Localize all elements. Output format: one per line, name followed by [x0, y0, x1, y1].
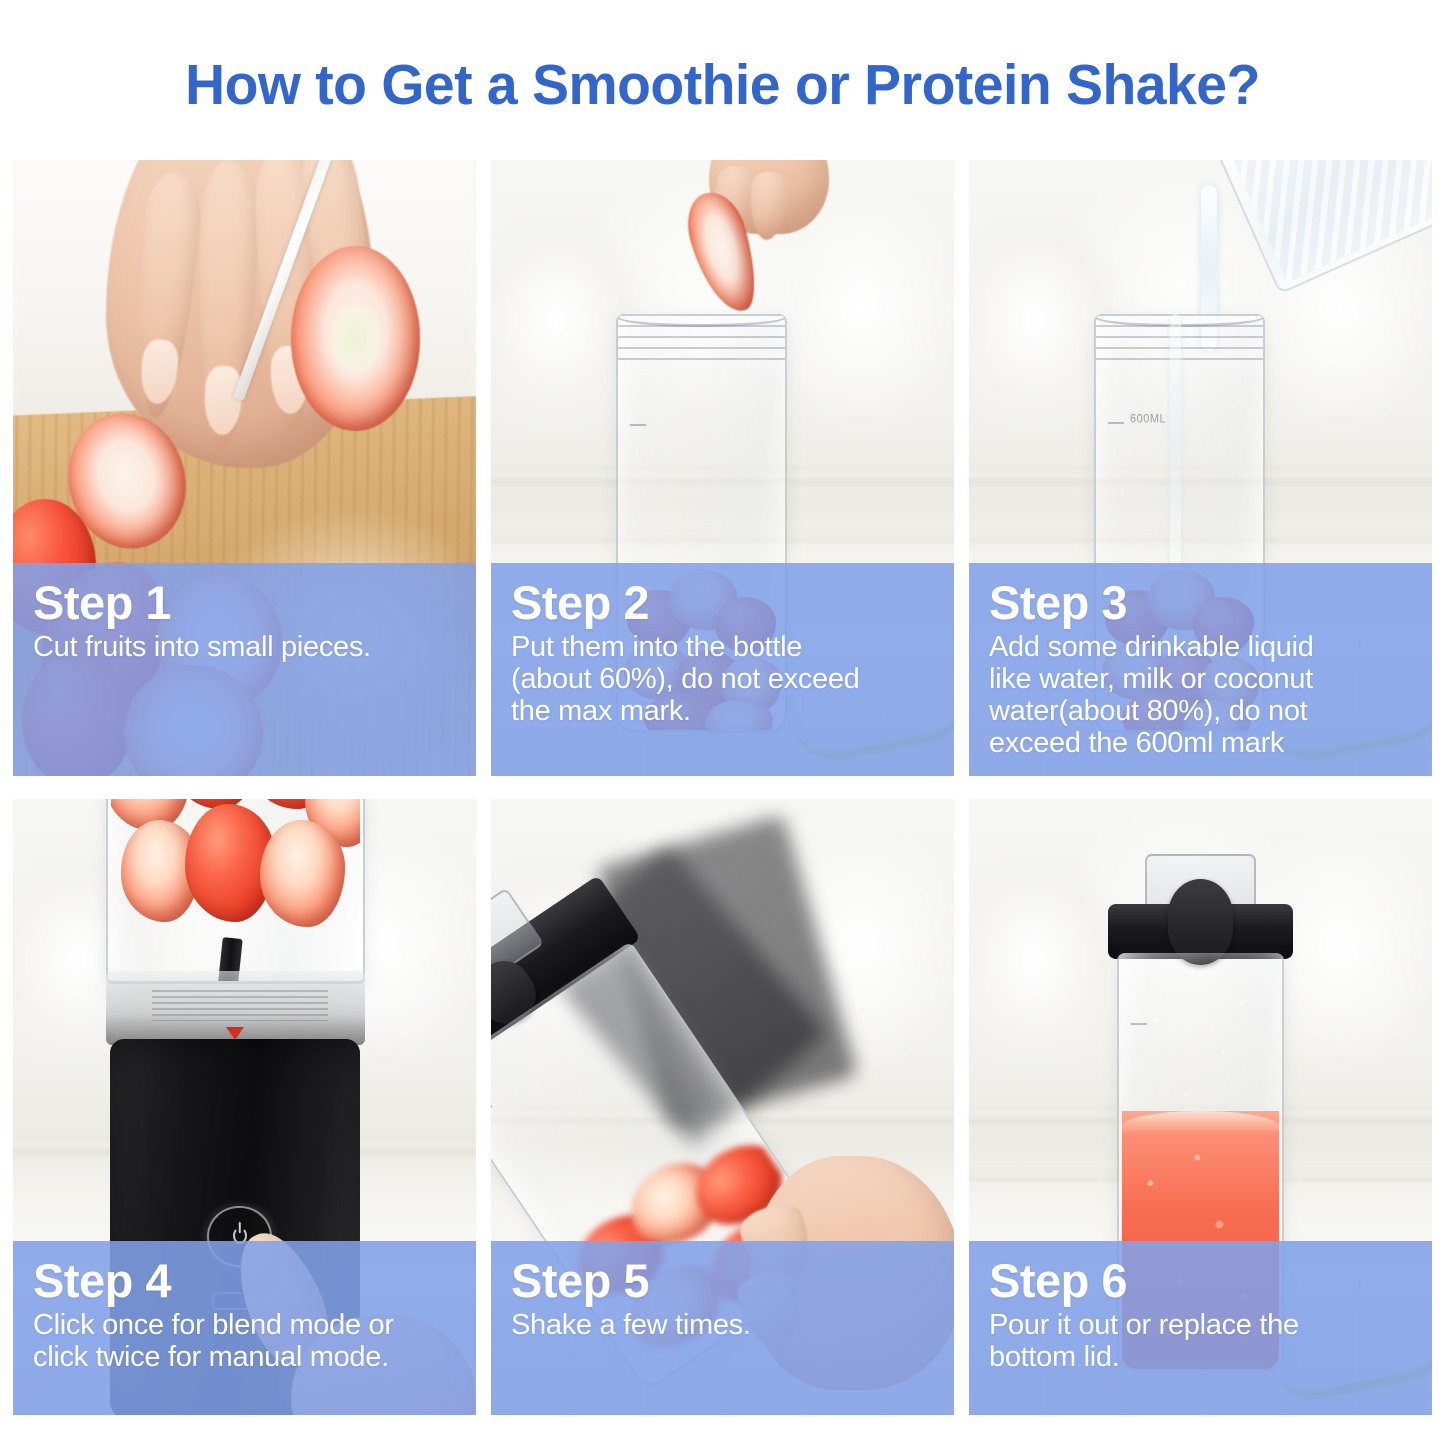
- step-1-title: Step 1: [33, 579, 458, 627]
- step-1-caption: Step 1 Cut fruits into small pieces.: [13, 563, 476, 776]
- step-6-title: Step 6: [989, 1257, 1414, 1305]
- bottle-marking-600ml: 600ML: [1130, 412, 1166, 425]
- step-5-caption: Step 5 Shake a few times.: [491, 1241, 954, 1415]
- step-6-body: Pour it out or replace the bottom lid.: [989, 1310, 1414, 1374]
- strawberry-chunk: [260, 820, 345, 927]
- warning-label: [152, 990, 328, 1021]
- step-card-3: 600ML Step 3 Add some d: [969, 160, 1432, 776]
- page-title: How to Get a Smoothie or Protein Shake?: [22, 52, 1424, 118]
- steps-grid: Step 1 Cut fruits into small pieces.: [13, 160, 1432, 1415]
- bottle-threads: [618, 314, 785, 368]
- step-2-caption: Step 2 Put them into the bottle (about 6…: [491, 563, 954, 776]
- step-1-body: Cut fruits into small pieces.: [33, 632, 458, 664]
- step-3-caption: Step 3 Add some drinkable liquid like wa…: [969, 563, 1432, 776]
- step-3-body: Add some drinkable liquid like water, mi…: [989, 632, 1414, 760]
- strawberry-being-cut: [291, 246, 421, 431]
- step-card-1: Step 1 Cut fruits into small pieces.: [13, 160, 476, 776]
- measurement-tick: [630, 424, 646, 426]
- measurement-tick: [1108, 422, 1124, 424]
- step-card-5: Step 5 Shake a few times.: [491, 799, 954, 1415]
- step-2-body: Put them into the bottle (about 60%), do…: [511, 632, 936, 728]
- step-4-body: Click once for blend mode or click twice…: [33, 1310, 458, 1374]
- step-card-2: Step 2 Put them into the bottle (about 6…: [491, 160, 954, 776]
- step-4-caption: Step 4 Click once for blend mode or clic…: [13, 1241, 476, 1415]
- step-5-title: Step 5: [511, 1257, 936, 1305]
- alignment-arrow-icon: [226, 1027, 244, 1040]
- step-card-6: Step 6 Pour it out or replace the bottom…: [969, 799, 1432, 1415]
- measurement-tick: [1131, 1023, 1147, 1025]
- step-4-title: Step 4: [33, 1257, 458, 1305]
- blender-cup: [106, 799, 365, 984]
- step-2-title: Step 2: [511, 579, 936, 627]
- infographic-page: How to Get a Smoothie or Protein Shake?: [0, 0, 1445, 1445]
- step-6-caption: Step 6 Pour it out or replace the bottom…: [969, 1241, 1432, 1415]
- step-5-body: Shake a few times.: [511, 1310, 936, 1342]
- step-3-title: Step 3: [989, 579, 1414, 627]
- step-card-4: Step 4 Click once for blend mode or clic…: [13, 799, 476, 1415]
- water-stream-inside: [1170, 314, 1181, 572]
- strawberry-core: [330, 304, 382, 374]
- measurement-tick: [491, 1105, 493, 1116]
